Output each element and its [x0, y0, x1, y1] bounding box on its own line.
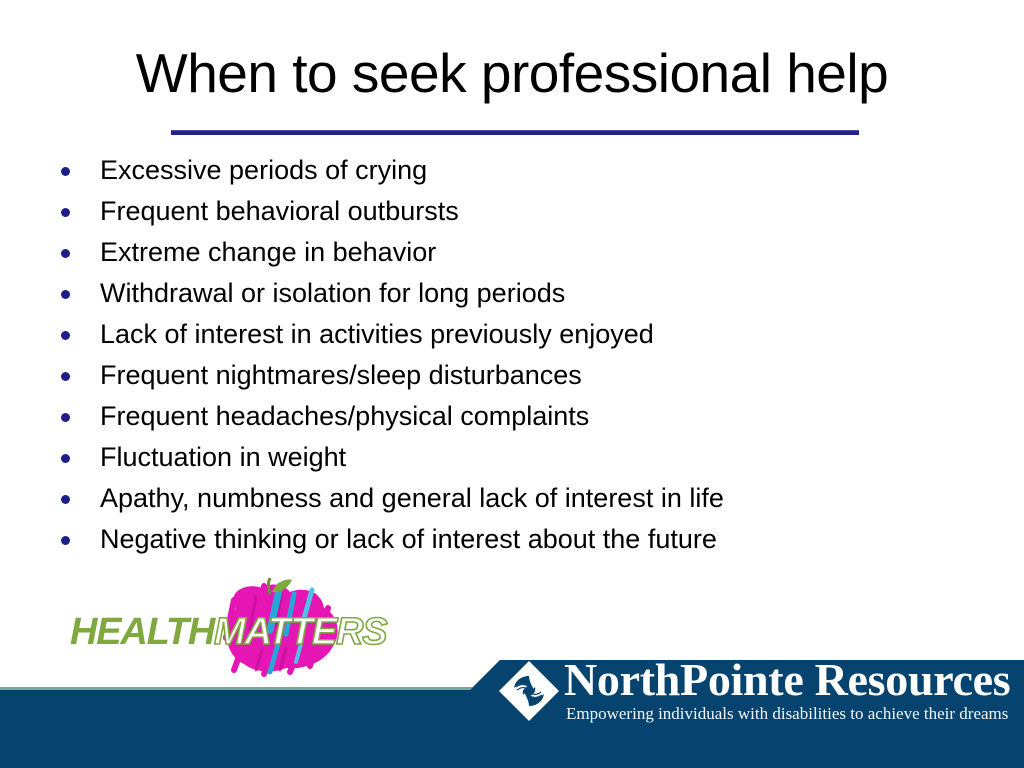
northpointe-wordmark-block: NorthPointe Resources Empowering individ… [564, 656, 1016, 723]
bullet-point-icon [58, 301, 100, 302]
title-underline-divider [171, 130, 859, 135]
bullet-point-icon [58, 383, 100, 384]
list-item-label: Frequent headaches/physical complaints [100, 401, 589, 431]
list-item: Negative thinking or lack of interest ab… [58, 524, 1008, 565]
bullet-point-icon [58, 342, 100, 343]
list-item: Fluctuation in weight [58, 442, 1008, 483]
brand-tagline: Empowering individuals with disabilities… [566, 704, 1016, 723]
presentation-slide: When to seek professional help Excessive… [0, 0, 1024, 768]
list-item-label: Frequent behavioral outbursts [100, 196, 459, 226]
bullet-point-icon [58, 178, 100, 179]
list-item-label: Fluctuation in weight [100, 442, 346, 472]
page-title: When to seek professional help [0, 42, 1024, 104]
list-item-label: Extreme change in behavior [100, 237, 436, 267]
list-item: Lack of interest in activities previousl… [58, 319, 1008, 360]
list-item: Frequent headaches/physical complaints [58, 401, 1008, 442]
bullet-point-icon [58, 506, 100, 507]
list-item: Withdrawal or isolation for long periods [58, 278, 1008, 319]
list-item: Apathy, numbness and general lack of int… [58, 483, 1008, 524]
bullet-point-icon [58, 424, 100, 425]
slide-title-block: When to seek professional help [0, 42, 1024, 104]
northpointe-resources-logo: NorthPointe Resources Empowering individ… [498, 658, 1018, 728]
list-item-label: Negative thinking or lack of interest ab… [100, 524, 717, 554]
bullet-point-icon [58, 260, 100, 261]
list-item: Frequent nightmares/sleep disturbances [58, 360, 1008, 401]
list-item: Extreme change in behavior [58, 237, 1008, 278]
list-item: Excessive periods of crying [58, 155, 1008, 196]
list-item-label: Excessive periods of crying [100, 155, 427, 185]
brand-name: NorthPointe Resources [564, 656, 1016, 703]
bullet-point-icon [58, 219, 100, 220]
list-item-label: Withdrawal or isolation for long periods [100, 278, 565, 308]
northpointe-diamond-emblem-icon [498, 660, 560, 722]
bullet-point-icon [58, 547, 100, 548]
list-item-label: Frequent nightmares/sleep disturbances [100, 360, 582, 390]
list-item: Frequent behavioral outbursts [58, 196, 1008, 237]
bullet-list: Excessive periods of crying Frequent beh… [58, 155, 1008, 565]
bullet-point-icon [58, 465, 100, 466]
list-item-label: Lack of interest in activities previousl… [100, 319, 654, 349]
list-item-label: Apathy, numbness and general lack of int… [100, 483, 724, 513]
